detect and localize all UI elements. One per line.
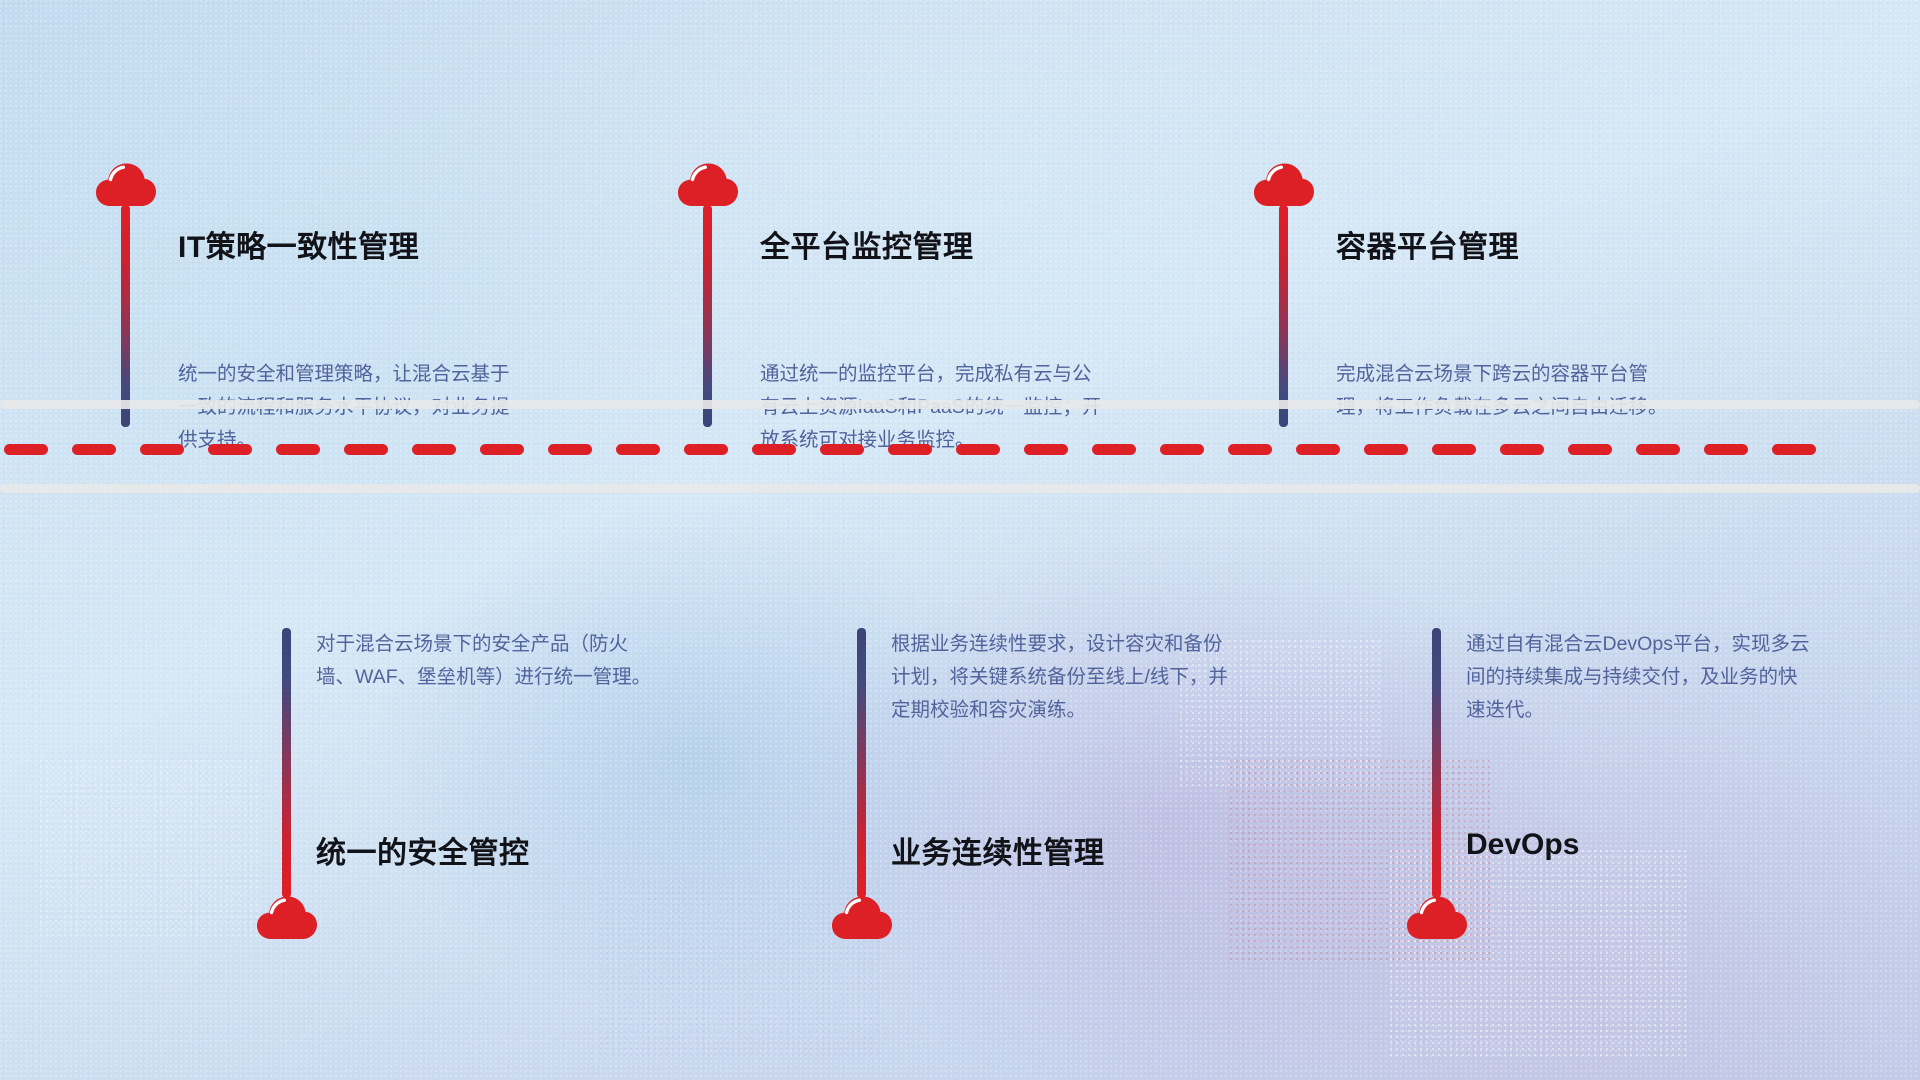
dash-segment <box>1364 444 1408 455</box>
bottom-title-2: 业务连续性管理 <box>891 828 1105 872</box>
cloud-icon <box>831 895 893 941</box>
dash-segment <box>1636 444 1680 455</box>
dash-segment <box>752 444 796 455</box>
divider-band-top <box>0 400 1920 409</box>
connector-line <box>1432 628 1441 898</box>
dash-segment <box>1500 444 1544 455</box>
bottom-desc-3: 通过自有混合云DevOps平台，实现多云间的持续集成与持续交付，及业务的快速迭代… <box>1466 628 1811 727</box>
bottom-marker-2 <box>831 628 893 941</box>
dash-segment <box>208 444 252 455</box>
divider-band-bottom <box>0 484 1920 493</box>
bottom-title-3: DevOps <box>1466 828 1579 862</box>
bottom-title-1: 统一的安全管控 <box>316 828 530 872</box>
dash-segment <box>412 444 456 455</box>
dash-segment <box>1432 444 1476 455</box>
top-title-2: 全平台监控管理 <box>760 222 974 266</box>
infographic-canvas: IT策略一致性管理 统一的安全和管理策略，让混合云基于一致的流程和服务水平协议，… <box>0 0 1920 1080</box>
dash-segment <box>1568 444 1612 455</box>
bottom-desc-1: 对于混合云场景下的安全产品（防火墙、WAF、堡垒机等）进行统一管理。 <box>316 628 661 694</box>
dash-segment <box>888 444 932 455</box>
bottom-marker-3 <box>1406 628 1468 941</box>
dash-segment <box>1772 444 1816 455</box>
dash-segment <box>820 444 864 455</box>
dash-segment <box>1228 444 1272 455</box>
connector-line <box>121 205 130 427</box>
cloud-icon <box>256 895 318 941</box>
dash-segment <box>4 444 48 455</box>
dash-segment <box>276 444 320 455</box>
dash-segment <box>616 444 660 455</box>
dash-segment <box>1704 444 1748 455</box>
connector-line <box>282 628 291 898</box>
dash-segment <box>1024 444 1068 455</box>
dash-segment <box>956 444 1000 455</box>
top-marker-2 <box>677 162 739 427</box>
top-marker-3 <box>1253 162 1315 427</box>
cloud-icon <box>677 162 739 208</box>
top-desc-3: 完成混合云场景下跨云的容器平台管理，将工作负载在多云之间自由迁移。 <box>1336 358 1681 424</box>
dash-segment <box>140 444 184 455</box>
connector-line <box>703 205 712 427</box>
connector-line <box>857 628 866 898</box>
dash-segment <box>684 444 728 455</box>
dashed-timeline-line <box>0 444 1920 455</box>
bottom-desc-2: 根据业务连续性要求，设计容灾和备份计划，将关键系统备份至线上/线下，并定期校验和… <box>891 628 1236 727</box>
dash-segment <box>1160 444 1204 455</box>
top-title-1: IT策略一致性管理 <box>178 222 419 266</box>
dash-segment <box>1092 444 1136 455</box>
top-marker-1 <box>95 162 157 427</box>
bottom-marker-1 <box>256 628 318 941</box>
cloud-icon <box>1406 895 1468 941</box>
dash-segment <box>1296 444 1340 455</box>
cloud-icon <box>1253 162 1315 208</box>
cloud-icon <box>95 162 157 208</box>
dash-segment <box>480 444 524 455</box>
dash-segment <box>548 444 592 455</box>
dash-segment <box>344 444 388 455</box>
dash-segment <box>72 444 116 455</box>
top-title-3: 容器平台管理 <box>1336 222 1519 266</box>
connector-line <box>1279 205 1288 427</box>
